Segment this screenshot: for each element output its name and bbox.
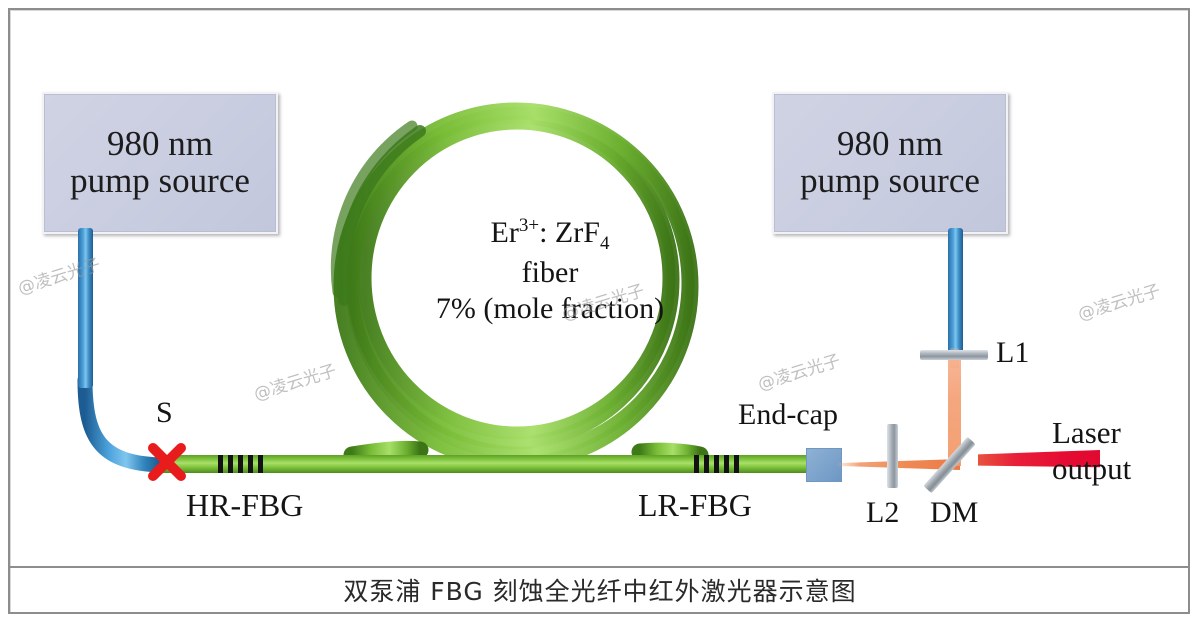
- pump-source-left[interactable]: 980 nm pump source: [42, 92, 278, 234]
- end-cap-block: [806, 448, 842, 482]
- coil-host: : ZrF: [539, 216, 600, 249]
- splice-label: S: [156, 396, 173, 430]
- fiber-coil-label-line2: fiber: [405, 255, 695, 290]
- fiber-coil-label: Er3+: ZrF4 fiber 7% (mole fraction): [405, 215, 695, 326]
- lens-l1: [920, 350, 988, 360]
- lens-l2: [887, 424, 898, 488]
- pump-left-line1: 980 nm: [107, 126, 213, 163]
- laser-output-label: Laser output: [1052, 415, 1131, 487]
- coil-element: Er: [491, 216, 519, 249]
- figure-canvas: 980 nm pump source 980 nm pump source Er…: [0, 0, 1200, 624]
- pump-right-line2: pump source: [800, 163, 980, 200]
- hr-fbg-label: HR-FBG: [186, 487, 303, 524]
- coil-host-sub: 4: [600, 233, 610, 254]
- fiber-coil-label-line3: 7% (mole fraction): [405, 291, 695, 326]
- pump-fiber-left: [78, 228, 93, 388]
- coil-charge: 3+: [519, 215, 539, 236]
- lr-fbg-label: LR-FBG: [638, 487, 752, 524]
- hr-fbg-grating: [218, 455, 263, 473]
- fiber-coil-label-line1: Er3+: ZrF4: [405, 215, 695, 255]
- pump-right-line1: 980 nm: [837, 126, 943, 163]
- pump-left-line2: pump source: [70, 163, 250, 200]
- laser-output-line2: output: [1052, 451, 1131, 487]
- laser-output-line1: Laser: [1052, 415, 1131, 451]
- splice-point-marker: [146, 441, 188, 483]
- pump-source-right[interactable]: 980 nm pump source: [772, 92, 1008, 234]
- lens-l2-label: L2: [866, 496, 899, 530]
- pump-fiber-right: [948, 228, 963, 356]
- lens-l1-label: L1: [996, 336, 1029, 370]
- dichroic-mirror-label: DM: [930, 496, 978, 530]
- lr-fbg-grating: [694, 455, 739, 473]
- end-cap-label: End-cap: [738, 398, 838, 432]
- figure-caption: 双泵浦 FBG 刻蚀全光纤中红外激光器示意图: [10, 568, 1190, 612]
